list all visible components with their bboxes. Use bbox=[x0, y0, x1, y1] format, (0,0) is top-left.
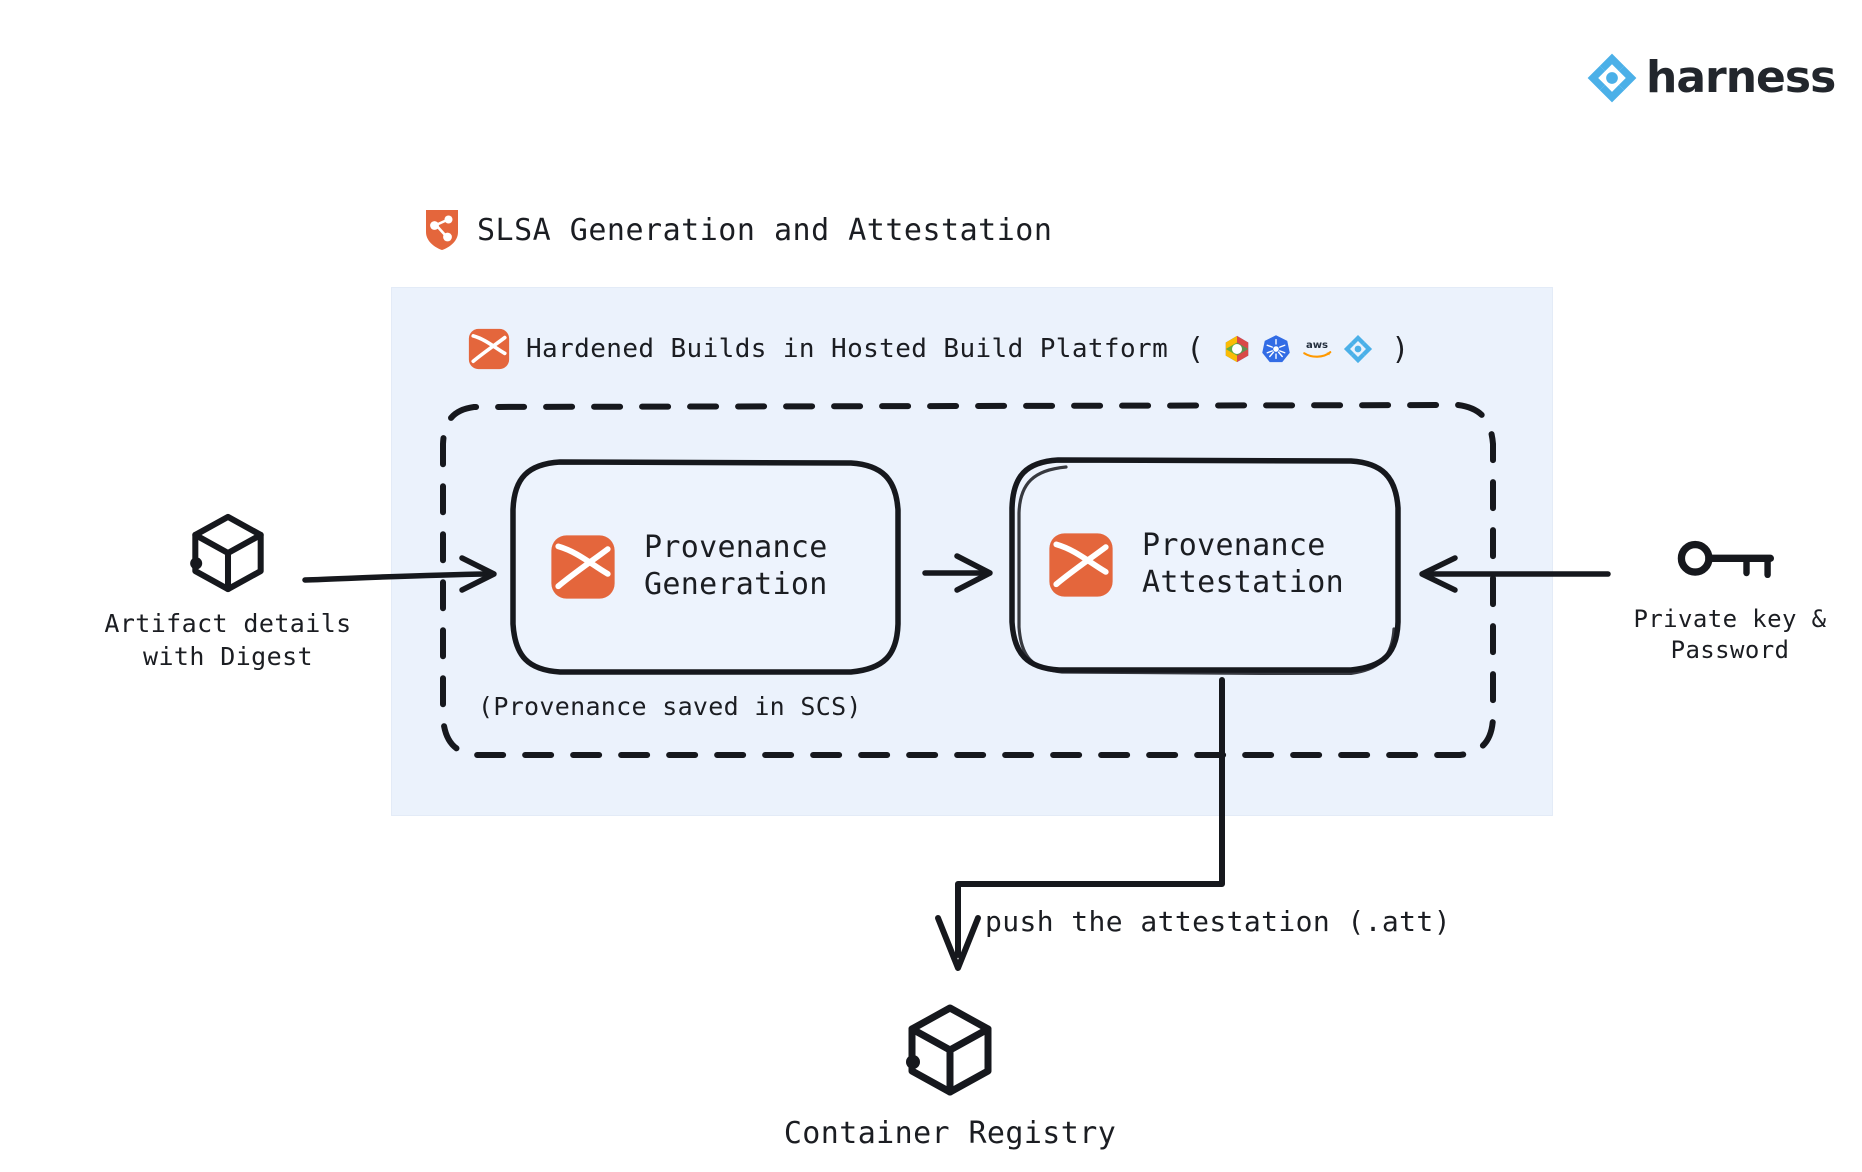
svg-text:aws: aws bbox=[1306, 340, 1328, 351]
stage-provenance-generation[interactable]: Provenance Generation bbox=[508, 458, 903, 676]
diagram-title: SLSA Generation and Attestation bbox=[424, 208, 1052, 252]
diagram-title-text: SLSA Generation and Attestation bbox=[477, 213, 1052, 248]
stage-provenance-attestation[interactable]: Provenance Attestation bbox=[1006, 455, 1406, 675]
platform-icon-group: aws bbox=[1222, 334, 1373, 364]
harness-wordmark: harness bbox=[1646, 56, 1835, 100]
kubernetes-icon bbox=[1261, 334, 1291, 364]
provenance-note: (Provenance saved in SCS) bbox=[478, 692, 862, 721]
diagram-canvas: harness SLSA Generation and Attestation bbox=[0, 0, 1862, 1172]
slsa-shield-icon bbox=[424, 208, 460, 252]
cube-icon bbox=[185, 510, 271, 596]
panel-header: Hardened Builds in Hosted Build Platform… bbox=[468, 328, 1411, 370]
cube-icon bbox=[900, 1000, 1000, 1100]
aws-icon: aws bbox=[1300, 336, 1334, 362]
panel-header-text: Hardened Builds in Hosted Build Platform bbox=[526, 334, 1168, 364]
artifact-caption: Artifact details with Digest bbox=[78, 608, 378, 673]
paren-close: ) bbox=[1391, 332, 1409, 367]
container-registry-node: Container Registry bbox=[700, 1000, 1200, 1153]
push-attestation-label: push the attestation (.att) bbox=[985, 905, 1451, 938]
harness-logo: harness bbox=[1586, 52, 1835, 104]
stage-label: Provenance Generation bbox=[644, 530, 828, 603]
container-registry-caption: Container Registry bbox=[700, 1114, 1200, 1153]
harness-diamond-icon bbox=[1586, 52, 1638, 104]
private-key-caption: Private key & Password bbox=[1595, 604, 1862, 666]
paren-open: ( bbox=[1186, 332, 1204, 367]
harness-ssca-icon bbox=[468, 328, 510, 370]
private-key-input-node: Private key & Password bbox=[1595, 538, 1862, 666]
key-icon bbox=[1675, 538, 1785, 586]
harness-ssca-icon bbox=[550, 534, 616, 600]
stage-label: Provenance Attestation bbox=[1142, 528, 1344, 601]
artifact-input-node: Artifact details with Digest bbox=[78, 510, 378, 673]
harness-ssca-icon bbox=[1048, 532, 1114, 598]
harness-icon bbox=[1343, 334, 1373, 364]
gcp-icon bbox=[1222, 334, 1252, 364]
